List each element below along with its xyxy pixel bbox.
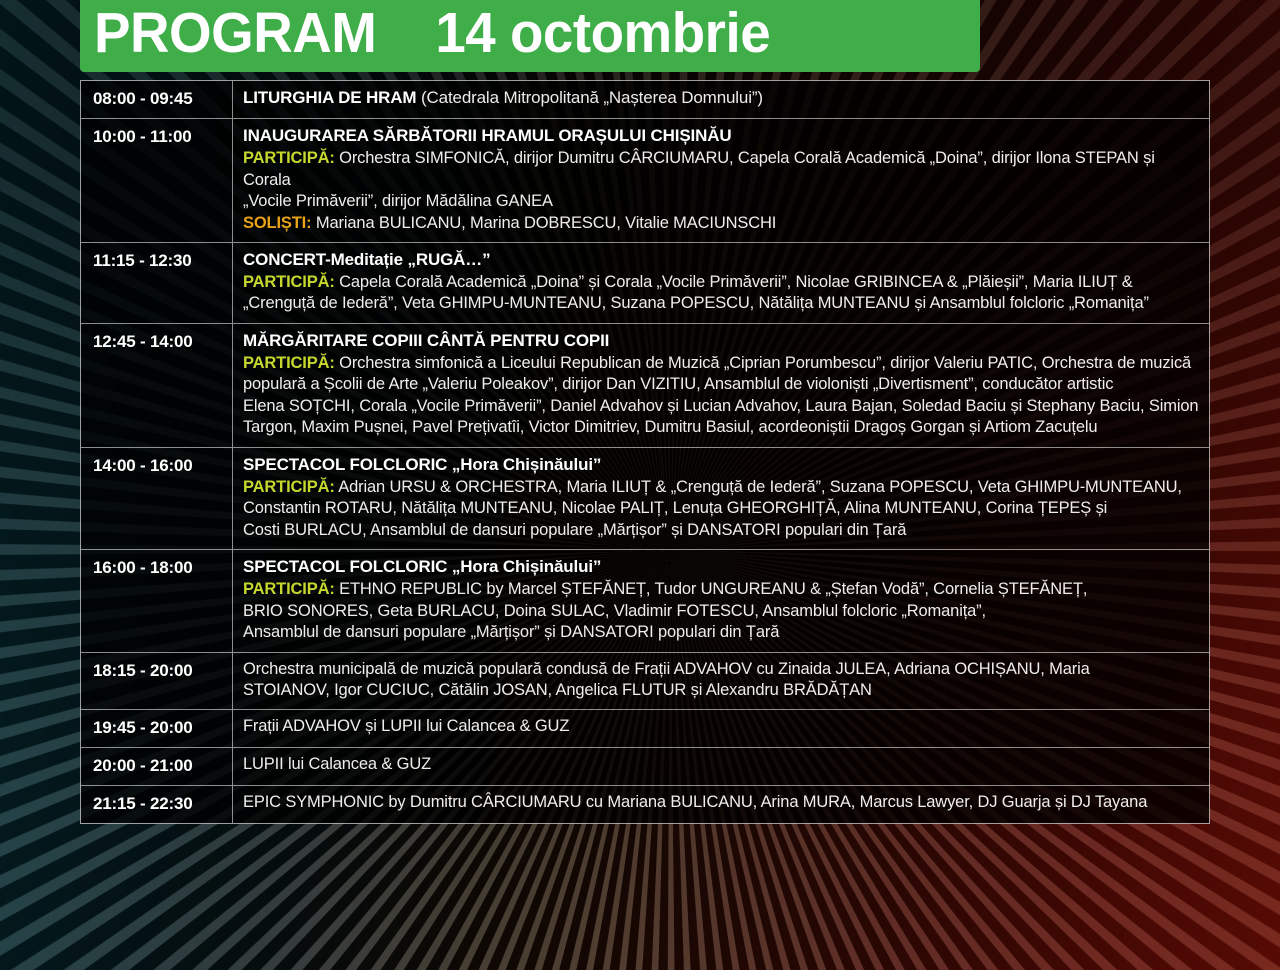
schedule-time: 18:15 - 20:00 — [81, 653, 233, 710]
event-title-main: SPECTACOL FOLCLORIC „Hora Chișinăului” — [243, 455, 601, 474]
schedule-time: 08:00 - 09:45 — [81, 81, 233, 118]
event-title-main: LITURGHIA DE HRAM — [243, 88, 416, 107]
detail-line: Elena SOȚCHI, Corala „Vocile Primăverii”… — [243, 396, 1199, 417]
participants-line: PARTICIPĂ: Orchestra SIMFONICĂ, dirijor … — [243, 148, 1199, 191]
participa-label: PARTICIPĂ: — [243, 149, 335, 167]
schedule-time: 12:45 - 14:00 — [81, 324, 233, 447]
detail-line: Orchestra municipală de muzică populară … — [243, 659, 1199, 680]
event-title-main: MĂRGĂRITARE COPIII CÂNTĂ PENTRU COPII — [243, 331, 609, 350]
event-title: MĂRGĂRITARE COPIII CÂNTĂ PENTRU COPII — [243, 330, 1199, 352]
schedule-details: SPECTACOL FOLCLORIC „Hora Chișinăului”PA… — [233, 550, 1209, 651]
table-row: 19:45 - 20:00Frații ADVAHOV și LUPII lui… — [81, 710, 1209, 748]
table-row: 20:00 - 21:00LUPII lui Calancea & GUZ — [81, 748, 1209, 786]
table-row: 08:00 - 09:45LITURGHIA DE HRAM (Catedral… — [81, 81, 1209, 119]
detail-line: „Crenguță de Iederă”, Veta GHIMPU-MUNTEA… — [243, 293, 1199, 314]
detail-line: Targon, Maxim Pușnei, Pavel Prețivatîi, … — [243, 417, 1199, 438]
schedule-time: 16:00 - 18:00 — [81, 550, 233, 651]
soloists-line: SOLIȘTI: Mariana BULICANU, Marina DOBRES… — [243, 213, 1199, 234]
event-title: CONCERT-Meditație „RUGĂ…” — [243, 249, 1199, 271]
event-title: SPECTACOL FOLCLORIC „Hora Chișinăului” — [243, 556, 1199, 578]
schedule-details: LITURGHIA DE HRAM (Catedrala Mitropolita… — [233, 81, 1209, 118]
schedule-details: SPECTACOL FOLCLORIC „Hora Chișinăului”PA… — [233, 448, 1209, 549]
schedule-time: 20:00 - 21:00 — [81, 748, 233, 785]
participa-text: Capela Corală Academică „Doina” și Coral… — [335, 273, 1133, 291]
participants-line: PARTICIPĂ: Capela Corală Academică „Doin… — [243, 272, 1199, 293]
participa-label: PARTICIPĂ: — [243, 580, 335, 598]
schedule-details: Orchestra municipală de muzică populară … — [233, 653, 1209, 710]
event-title: SPECTACOL FOLCLORIC „Hora Chișinăului” — [243, 454, 1199, 476]
detail-line: BRIO SONORES, Geta BURLACU, Doina SULAC,… — [243, 601, 1199, 622]
detail-line: „Vocile Primăverii”, dirijor Mădălina GA… — [243, 191, 1199, 212]
schedule-time: 10:00 - 11:00 — [81, 119, 233, 242]
participa-label: PARTICIPĂ: — [243, 478, 335, 496]
event-title-main: CONCERT-Meditație „RUGĂ…” — [243, 250, 490, 269]
table-row: 10:00 - 11:00INAUGURAREA SĂRBĂTORII HRAM… — [81, 119, 1209, 243]
title-date: 14 octombrie — [435, 1, 770, 65]
participa-text: Orchestra simfonică a Liceului Republica… — [335, 354, 1191, 372]
detail-line: Frații ADVAHOV și LUPII lui Calancea & G… — [243, 716, 1199, 737]
poster-content: PROGRAM 14 octombrie 08:00 - 09:45LITURG… — [0, 0, 1280, 970]
participa-text: Adrian URSU & ORCHESTRA, Maria ILIUȚ & „… — [335, 478, 1182, 496]
schedule-time: 11:15 - 12:30 — [81, 243, 233, 323]
event-title-main: SPECTACOL FOLCLORIC „Hora Chișinăului” — [243, 557, 601, 576]
schedule-details: LUPII lui Calancea & GUZ — [233, 748, 1209, 785]
event-title: LITURGHIA DE HRAM (Catedrala Mitropolita… — [243, 87, 1199, 109]
event-title: INAUGURAREA SĂRBĂTORII HRAMUL ORAȘULUI C… — [243, 125, 1199, 147]
poster-canvas: PROGRAM 14 octombrie 08:00 - 09:45LITURG… — [0, 0, 1280, 970]
table-row: 11:15 - 12:30CONCERT-Meditație „RUGĂ…”PA… — [81, 243, 1209, 324]
participa-label: PARTICIPĂ: — [243, 273, 335, 291]
solisti-label: SOLIȘTI: — [243, 214, 311, 232]
detail-line: STOIANOV, Igor CUCIUC, Cătălin JOSAN, An… — [243, 680, 1199, 701]
table-row: 14:00 - 16:00SPECTACOL FOLCLORIC „Hora C… — [81, 448, 1209, 550]
solisti-text: Mariana BULICANU, Marina DOBRESCU, Vital… — [311, 214, 776, 232]
detail-line: Constantin ROTARU, Nătălița MUNTEANU, Ni… — [243, 498, 1199, 519]
schedule-details: MĂRGĂRITARE COPIII CÂNTĂ PENTRU COPIIPAR… — [233, 324, 1209, 447]
schedule-details: CONCERT-Meditație „RUGĂ…”PARTICIPĂ: Cape… — [233, 243, 1209, 323]
detail-line: Costi BURLACU, Ansamblul de dansuri popu… — [243, 520, 1199, 541]
page-title: PROGRAM 14 octombrie — [94, 5, 770, 62]
participa-text: Orchestra SIMFONICĂ, dirijor Dumitru CÂR… — [243, 149, 1155, 188]
detail-line: Ansamblul de dansuri populare „Mărțișor”… — [243, 622, 1199, 643]
schedule-time: 14:00 - 16:00 — [81, 448, 233, 549]
participa-label: PARTICIPĂ: — [243, 354, 335, 372]
participants-line: PARTICIPĂ: Orchestra simfonică a Liceulu… — [243, 353, 1199, 374]
table-row: 18:15 - 20:00Orchestra municipală de muz… — [81, 653, 1209, 711]
table-row: 21:15 - 22:30EPIC SYMPHONIC by Dumitru C… — [81, 786, 1209, 823]
detail-line: populară a Școlii de Arte „Valeriu Polea… — [243, 374, 1199, 395]
table-row: 12:45 - 14:00MĂRGĂRITARE COPIII CÂNTĂ PE… — [81, 324, 1209, 448]
schedule-details: EPIC SYMPHONIC by Dumitru CÂRCIUMARU cu … — [233, 786, 1209, 823]
detail-line: EPIC SYMPHONIC by Dumitru CÂRCIUMARU cu … — [243, 792, 1199, 813]
schedule-time: 21:15 - 22:30 — [81, 786, 233, 823]
schedule-time: 19:45 - 20:00 — [81, 710, 233, 747]
participants-line: PARTICIPĂ: Adrian URSU & ORCHESTRA, Mari… — [243, 477, 1199, 498]
schedule-details: INAUGURAREA SĂRBĂTORII HRAMUL ORAȘULUI C… — [233, 119, 1209, 242]
participa-text: ETHNO REPUBLIC by Marcel ȘTEFĂNEȚ, Tudor… — [335, 580, 1088, 598]
title-program-word: PROGRAM — [94, 1, 376, 65]
title-banner: PROGRAM 14 octombrie — [80, 0, 980, 72]
schedule-details: Frații ADVAHOV și LUPII lui Calancea & G… — [233, 710, 1209, 747]
detail-line: LUPII lui Calancea & GUZ — [243, 754, 1199, 775]
event-title-main: INAUGURAREA SĂRBĂTORII HRAMUL ORAȘULUI C… — [243, 126, 731, 145]
participants-line: PARTICIPĂ: ETHNO REPUBLIC by Marcel ȘTEF… — [243, 579, 1199, 600]
event-title-note: (Catedrala Mitropolitană „Nașterea Domnu… — [416, 88, 762, 107]
table-row: 16:00 - 18:00SPECTACOL FOLCLORIC „Hora C… — [81, 550, 1209, 652]
schedule-table: 08:00 - 09:45LITURGHIA DE HRAM (Catedral… — [80, 80, 1210, 824]
